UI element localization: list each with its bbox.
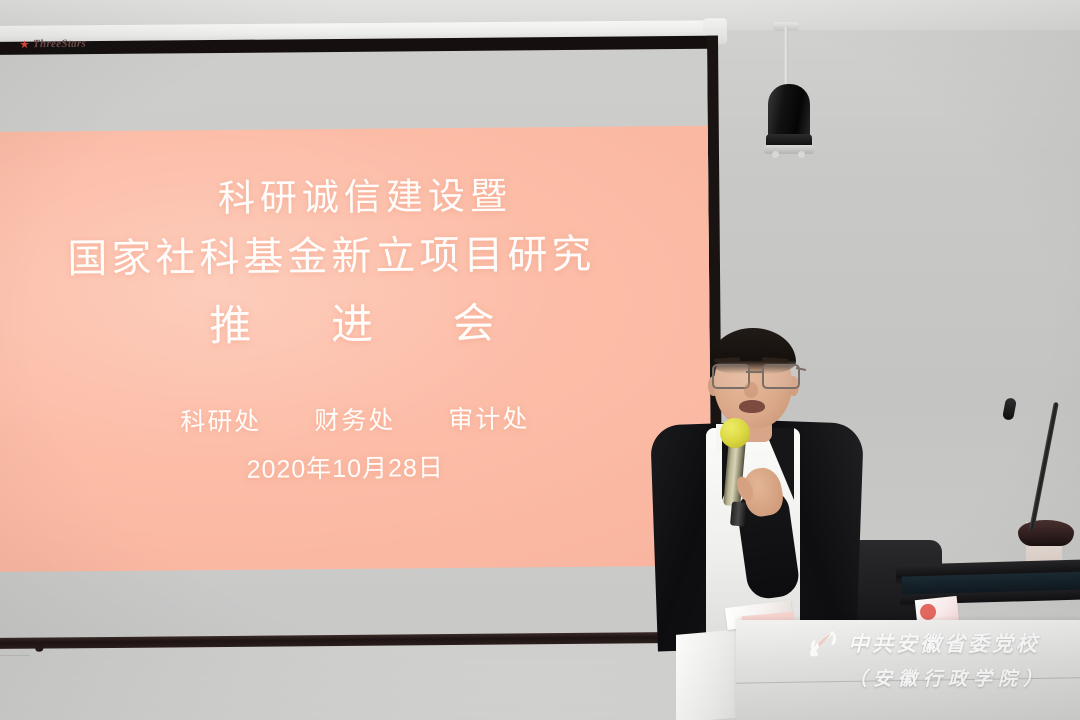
nose	[744, 382, 758, 398]
slide-title-line-3: 推 进 会	[0, 288, 710, 355]
cpc-hammer-sickle-emblem-icon	[806, 628, 840, 658]
department-item: 审计处	[448, 405, 529, 434]
slide-date: 2020年10月28日	[0, 446, 711, 488]
department-item: 科研处	[180, 408, 261, 437]
speaker-figure	[638, 320, 898, 650]
camera-screw	[772, 151, 779, 158]
podium-side-panel	[676, 629, 742, 720]
ceiling-camera-pole	[784, 26, 788, 88]
slide-title-line-2: 国家社科基金新立项目研究	[0, 221, 709, 285]
screen-body: 科研诚信建设暨 国家社科基金新立项目研究 推 进 会 科研处 财务处 审计处 2…	[0, 36, 723, 644]
slide-text-block: 科研诚信建设暨 国家社科基金新立项目研究 推 进 会 科研处 财务处 审计处 2…	[0, 126, 712, 572]
projection-screen: ThreeStars 科研诚信建设暨 国家社科基金新立项目研究 推 进 会 科研…	[0, 26, 725, 644]
microphone-icon	[720, 418, 750, 448]
microphone-stand-base	[1018, 520, 1074, 546]
projected-slide: 科研诚信建设暨 国家社科基金新立项目研究 推 进 会 科研处 财务处 审计处 2…	[0, 126, 712, 572]
mouth	[739, 400, 765, 413]
screen-brand: ThreeStars	[20, 38, 86, 51]
glasses-bridge	[746, 371, 762, 373]
slide-departments: 科研处 财务处 审计处	[0, 398, 710, 440]
institution-watermark: 中共安徽省委党校 （安徽行政学院）	[806, 628, 1080, 702]
camera-screw	[798, 151, 805, 158]
threestars-logo-icon	[20, 40, 29, 48]
watermark-institution-subname: （安徽行政学院）	[848, 664, 1048, 691]
screenshot-root: ThreeStars 科研诚信建设暨 国家社科基金新立项目研究 推 进 会 科研…	[0, 0, 1080, 720]
wall-seam	[0, 655, 30, 656]
watermark-row-primary: 中共安徽省委党校	[806, 628, 1040, 658]
watermark-institution-name: 中共安徽省委党校	[848, 628, 1040, 658]
screen-surface: 科研诚信建设暨 国家社科基金新立项目研究 推 进 会 科研处 财务处 审计处 2…	[0, 49, 712, 643]
microphone-handle	[730, 501, 747, 526]
screen-pull-knob	[35, 646, 43, 652]
department-item: 财务处	[314, 406, 395, 435]
slide-title-line-1: 科研诚信建设暨	[0, 164, 709, 224]
lens-right	[762, 364, 800, 389]
screen-brand-label: ThreeStars	[33, 38, 86, 50]
